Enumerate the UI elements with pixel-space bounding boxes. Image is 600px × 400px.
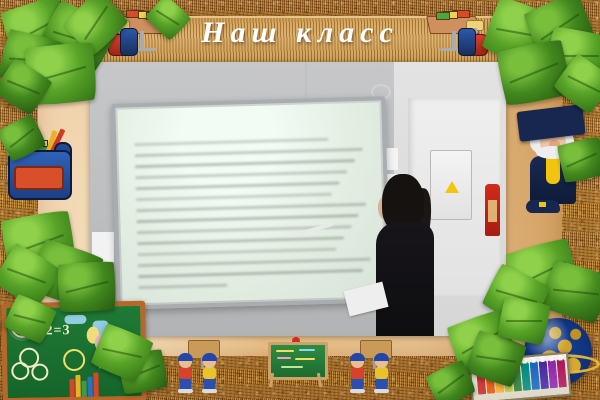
child-cap — [374, 353, 389, 361]
chalk-scribble — [299, 349, 315, 351]
blue-backpack-icon — [458, 28, 476, 56]
desk-leg — [452, 31, 456, 49]
desk-decoration-right — [424, 10, 484, 58]
student-figure — [376, 174, 440, 336]
chalk-scribble — [281, 366, 303, 368]
whiteboard-text-line — [136, 193, 333, 201]
whiteboard-surface — [117, 102, 384, 303]
child-figure — [178, 356, 193, 388]
whiteboard-text-line — [138, 284, 227, 289]
blue-backpack-icon — [120, 28, 138, 56]
torso — [376, 222, 434, 336]
flower-drawing-icon — [11, 362, 29, 380]
child-shirt — [203, 367, 216, 379]
whiteboard-text-line — [135, 182, 339, 191]
schoolchild-decoration — [176, 340, 230, 392]
satchel-pocket — [14, 166, 64, 190]
chalk-scribble — [277, 357, 291, 359]
chalk-scribble — [276, 350, 294, 352]
pencil-icon — [93, 373, 98, 397]
easel-chalkboard-decoration — [264, 342, 326, 386]
whiteboard-text-line — [136, 214, 359, 223]
schoolchild-decoration — [348, 340, 402, 392]
whiteboard-text-line — [136, 203, 367, 212]
professor-tie — [546, 158, 560, 184]
pencil-icon — [87, 377, 92, 397]
whiteboard-text-line — [134, 148, 362, 157]
child-shirt — [351, 367, 364, 379]
child-shoes — [178, 389, 193, 393]
graduation-cap-icon — [516, 104, 585, 142]
child-figure — [350, 356, 365, 388]
child-figure — [202, 356, 217, 388]
leaf-icon — [497, 297, 550, 345]
pencil-icon — [82, 381, 87, 397]
flower-drawing-icon — [31, 363, 48, 380]
whiteboard-text-line — [137, 248, 336, 257]
child-cap — [202, 353, 217, 361]
book-icon — [436, 12, 450, 20]
professor-shoe — [526, 200, 560, 213]
child-shirt — [179, 367, 192, 379]
child-shoes — [350, 389, 365, 393]
chalk-scribble — [295, 358, 315, 360]
flower-drawing-icon — [63, 349, 85, 371]
marker-pen-icon — [557, 359, 567, 388]
pencil-icon — [69, 379, 74, 397]
whiteboard-text-line — [134, 138, 328, 146]
interactive-whiteboard — [111, 96, 391, 310]
whiteboard-text-line — [137, 236, 344, 245]
child-figure — [374, 356, 389, 388]
whiteboard-text-line — [138, 269, 363, 278]
classroom-photo — [90, 62, 506, 336]
leaf-icon — [56, 259, 119, 315]
whiteboard-text-line — [135, 159, 355, 168]
desk-leg — [140, 31, 144, 49]
pencil-icon — [75, 375, 80, 397]
child-shoes — [202, 389, 217, 393]
child-cap — [350, 353, 365, 361]
child-cap — [178, 353, 193, 361]
whiteboard-text-line — [135, 170, 347, 179]
whiteboard-text-line — [137, 258, 370, 268]
photo-frame-page: Наш класс — [0, 0, 600, 400]
fire-extinguisher-icon — [485, 184, 500, 236]
child-shirt — [375, 367, 388, 379]
child-shoes — [374, 389, 389, 393]
